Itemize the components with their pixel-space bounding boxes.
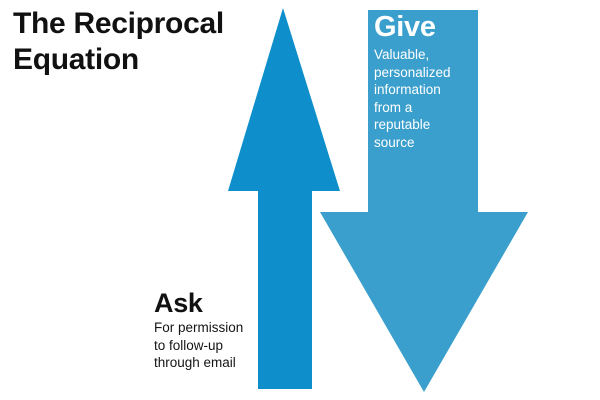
give-body: Valuable, personalized information from … <box>374 46 476 151</box>
ask-body-line: through email <box>154 354 264 372</box>
ask-body: For permission to follow-up through emai… <box>154 319 264 372</box>
give-body-line: Valuable, <box>374 46 476 64</box>
ask-body-line: For permission <box>154 319 264 337</box>
ask-label-group: Ask For permission to follow-up through … <box>154 288 264 372</box>
give-body-line: personalized <box>374 64 476 82</box>
give-body-line: information <box>374 81 476 99</box>
infographic-canvas: The Reciprocal Equation Give Valuable, p… <box>0 0 600 400</box>
page-title: The Reciprocal Equation <box>13 6 293 78</box>
page-title-line-1: The Reciprocal <box>13 6 293 42</box>
ask-body-line: to follow-up <box>154 337 264 355</box>
give-heading: Give <box>374 11 476 44</box>
give-body-line: from a <box>374 99 476 117</box>
give-label-group: Give Valuable, personalized information … <box>374 11 476 151</box>
page-title-line-2: Equation <box>13 42 293 78</box>
ask-heading: Ask <box>154 288 264 318</box>
give-body-line: reputable <box>374 116 476 134</box>
give-body-line: source <box>374 134 476 152</box>
